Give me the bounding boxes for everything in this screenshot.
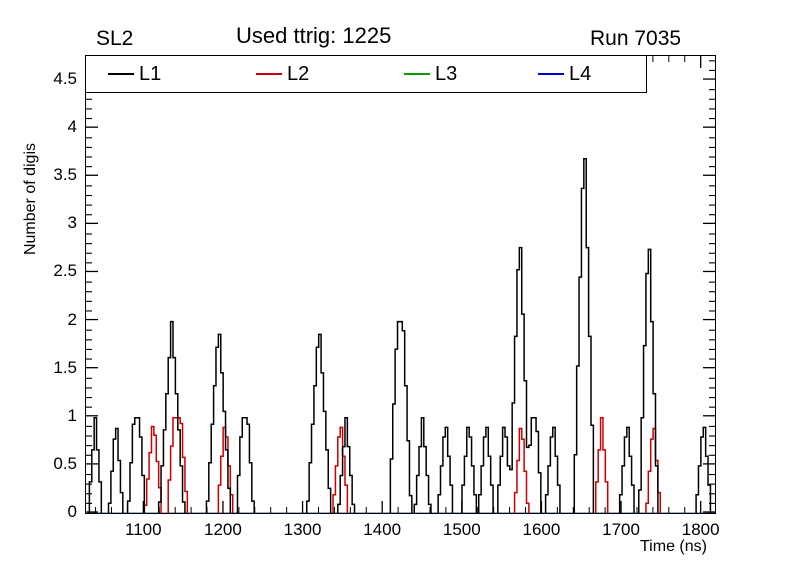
legend-line-l3-icon: [404, 73, 430, 75]
legend-label: L4: [569, 64, 591, 84]
legend-entry-l3[interactable]: L3: [404, 64, 457, 84]
legend-line-l1-icon: [108, 73, 134, 75]
legend-box: L1L2L3L4: [85, 55, 647, 93]
legend-label: L1: [139, 64, 161, 84]
legend-label: L3: [435, 64, 457, 84]
legend-line-l4-icon: [538, 73, 564, 75]
legend-entry-l1[interactable]: L1: [108, 64, 161, 84]
legend-label: L2: [287, 64, 309, 84]
root-canvas: SL2 Used ttrig: 1225 Run 7035 Number of …: [0, 0, 796, 572]
legend-entry-l2[interactable]: L2: [256, 64, 309, 84]
legend-line-l2-icon: [256, 73, 282, 75]
legend-entry-l4[interactable]: L4: [538, 64, 591, 84]
